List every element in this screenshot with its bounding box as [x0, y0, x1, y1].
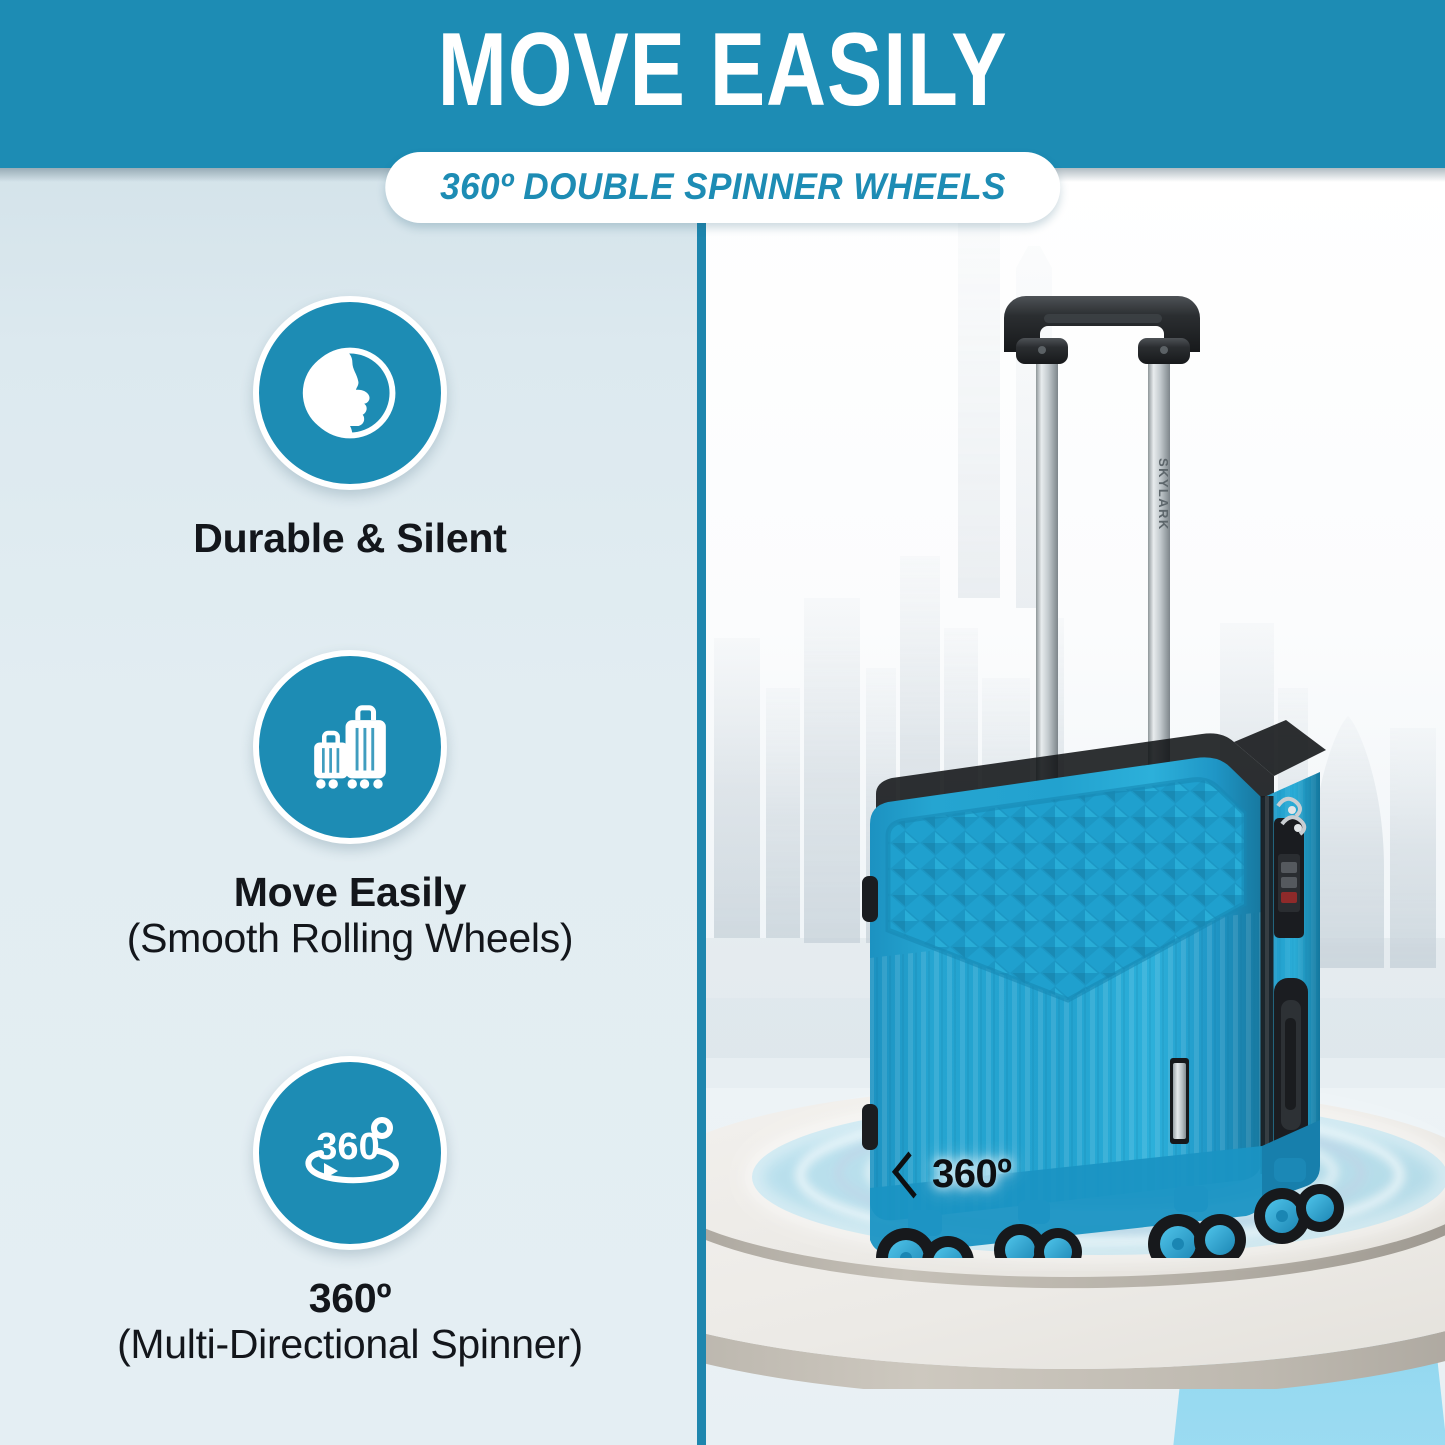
feature-label-main: Durable & Silent [193, 516, 506, 562]
feature-item-360-spinner: 360 360º (Multi-Directional Spinner) [0, 1056, 700, 1368]
bumper-foot [862, 1104, 878, 1150]
feature-item-move-easily: Move Easily (Smooth Rolling Wheels) [0, 650, 700, 962]
page-title: MOVE EASILY [145, 18, 1301, 122]
ground-360-label: 360º [932, 1152, 1011, 1197]
subtitle-badge: 360º DOUBLE SPINNER WHEELS [385, 152, 1060, 223]
header-banner: MOVE EASILY [0, 0, 1445, 168]
bumper-foot [862, 876, 878, 922]
luggage-set-icon [253, 650, 447, 844]
suitcase-product-image: SKYLARK [830, 258, 1430, 1263]
angle-caret-icon [892, 1151, 930, 1198]
infographic-stage: MOVE EASILY 360º DOUBLE SPINNER WHEELS D… [0, 0, 1445, 1445]
telescopic-handle: SKYLARK [1004, 296, 1200, 790]
feature-label-move-easily: Move Easily (Smooth Rolling Wheels) [127, 870, 574, 962]
panel-divider [697, 172, 706, 1445]
360-rotation-icon: 360 [253, 1056, 447, 1250]
subtitle-badge-label: 360º DOUBLE SPINNER WHEELS [440, 168, 1006, 205]
tsa-combination-lock [1274, 799, 1304, 938]
feature-label-durable-silent: Durable & Silent [193, 516, 506, 562]
feature-label-360-spinner: 360º (Multi-Directional Spinner) [117, 1276, 583, 1368]
feature-label-main: Move Easily [127, 870, 574, 916]
quiet-face-icon [253, 296, 447, 490]
svg-text:360: 360 [316, 1126, 379, 1168]
ground-360-annotation: 360º [898, 1152, 1011, 1197]
feature-label-sub: (Smooth Rolling Wheels) [127, 916, 574, 962]
product-panel: SKYLARK [700, 168, 1445, 1445]
brand-plate [1170, 1058, 1189, 1144]
suitcase-svg: SKYLARK [830, 258, 1430, 1258]
feature-label-sub: (Multi-Directional Spinner) [117, 1322, 583, 1368]
feature-label-main: 360º [117, 1276, 583, 1322]
brand-text-on-handle: SKYLARK [1156, 458, 1171, 531]
feature-item-durable-silent: Durable & Silent [0, 296, 700, 562]
